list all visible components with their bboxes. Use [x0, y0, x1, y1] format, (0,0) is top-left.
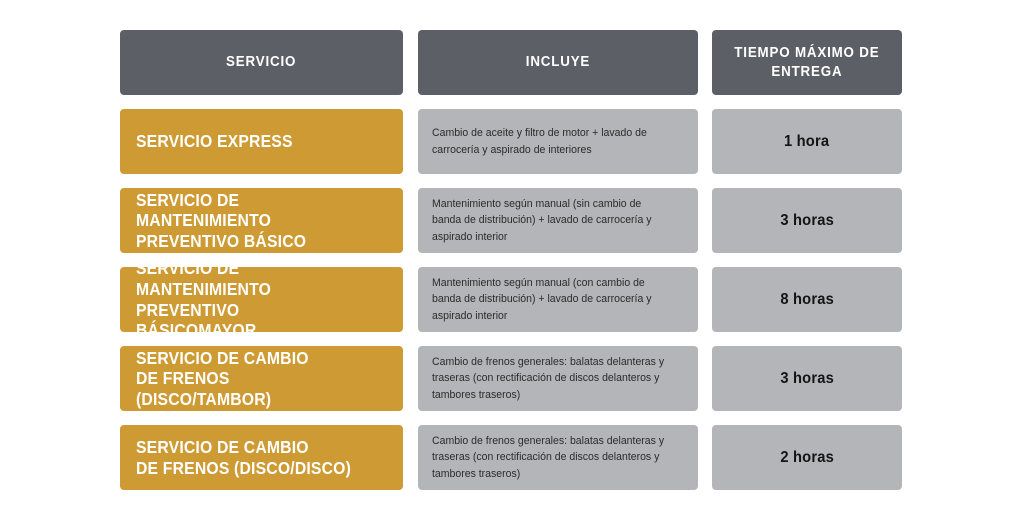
service-includes-label: Mantenimiento según manual (con cambio d… [432, 275, 669, 325]
table-row: SERVICIO DE CAMBIO DE FRENOS (DISCO/DISC… [120, 425, 902, 490]
service-time-label: 3 horas [780, 370, 834, 388]
column-header-tiempo: TIEMPO MÁXIMO DE ENTREGA [712, 30, 902, 95]
service-includes-label: Cambio de frenos generales: balatas dela… [432, 433, 669, 483]
column-gap [403, 188, 418, 253]
column-header-incluye: INCLUYE [418, 30, 698, 95]
service-time-label: 3 horas [780, 212, 834, 230]
table-row: SERVICIO DE CAMBIO DE FRENOS (DISCO/TAMB… [120, 346, 902, 411]
service-time-label: 1 hora [784, 133, 829, 151]
service-name-cell: SERVICIO DE CAMBIO DE FRENOS (DISCO/DISC… [120, 425, 403, 490]
service-time-cell: 2 horas [712, 425, 902, 490]
column-gap [698, 267, 712, 332]
service-includes-cell: Cambio de frenos generales: balatas dela… [418, 425, 698, 490]
service-name-label: SERVICIO DE CAMBIO DE FRENOS (DISCO/TAMB… [136, 348, 362, 410]
service-name-label: SERVICIO DE MANTENIMIENTO PREVENTIVO BÁS… [136, 190, 362, 252]
page-canvas: SERVICIO INCLUYE TIEMPO MÁXIMO DE ENTREG… [0, 0, 1024, 512]
column-gap [698, 425, 712, 490]
service-includes-cell: Mantenimiento según manual (con cambio d… [418, 267, 698, 332]
column-gap [698, 346, 712, 411]
service-includes-cell: Cambio de aceite y filtro de motor + lav… [418, 109, 698, 174]
service-includes-label: Mantenimiento según manual (sin cambio d… [432, 196, 669, 246]
service-includes-label: Cambio de frenos generales: balatas dela… [432, 354, 669, 404]
column-gap [403, 346, 418, 411]
service-name-label: SERVICIO DE CAMBIO DE FRENOS (DISCO/DISC… [136, 437, 351, 478]
service-name-cell: SERVICIO EXPRESS [120, 109, 403, 174]
service-time-label: 8 horas [780, 291, 834, 309]
service-name-label: SERVICIO DE MANTENIMIENTO PREVENTIVO BÁS… [136, 258, 362, 341]
table-row: SERVICIO DE MANTENIMIENTO PREVENTIVO BÁS… [120, 188, 902, 253]
service-name-cell: SERVICIO DE MANTENIMIENTO PREVENTIVO BÁS… [120, 188, 403, 253]
services-table: SERVICIO INCLUYE TIEMPO MÁXIMO DE ENTREG… [120, 30, 902, 504]
service-time-label: 2 horas [780, 449, 834, 467]
table-row: SERVICIO DE MANTENIMIENTO PREVENTIVO BÁS… [120, 267, 902, 332]
service-time-cell: 1 hora [712, 109, 902, 174]
column-header-incluye-label: INCLUYE [526, 53, 590, 71]
column-gap [403, 267, 418, 332]
column-gap [698, 109, 712, 174]
column-gap [403, 30, 418, 95]
table-row: SERVICIO EXPRESS Cambio de aceite y filt… [120, 109, 902, 174]
column-gap [403, 109, 418, 174]
service-includes-cell: Mantenimiento según manual (sin cambio d… [418, 188, 698, 253]
service-name-label: SERVICIO EXPRESS [136, 131, 293, 152]
column-header-servicio-label: SERVICIO [226, 53, 296, 71]
service-includes-label: Cambio de aceite y filtro de motor + lav… [432, 125, 669, 158]
table-header-row: SERVICIO INCLUYE TIEMPO MÁXIMO DE ENTREG… [120, 30, 902, 95]
service-time-cell: 3 horas [712, 346, 902, 411]
service-name-cell: SERVICIO DE CAMBIO DE FRENOS (DISCO/TAMB… [120, 346, 403, 411]
column-header-servicio: SERVICIO [120, 30, 403, 95]
service-time-cell: 3 horas [712, 188, 902, 253]
column-gap [698, 188, 712, 253]
service-name-cell: SERVICIO DE MANTENIMIENTO PREVENTIVO BÁS… [120, 267, 403, 332]
column-gap [403, 425, 418, 490]
column-gap [698, 30, 712, 95]
service-time-cell: 8 horas [712, 267, 902, 332]
service-includes-cell: Cambio de frenos generales: balatas dela… [418, 346, 698, 411]
column-header-tiempo-label: TIEMPO MÁXIMO DE ENTREGA [734, 44, 879, 80]
